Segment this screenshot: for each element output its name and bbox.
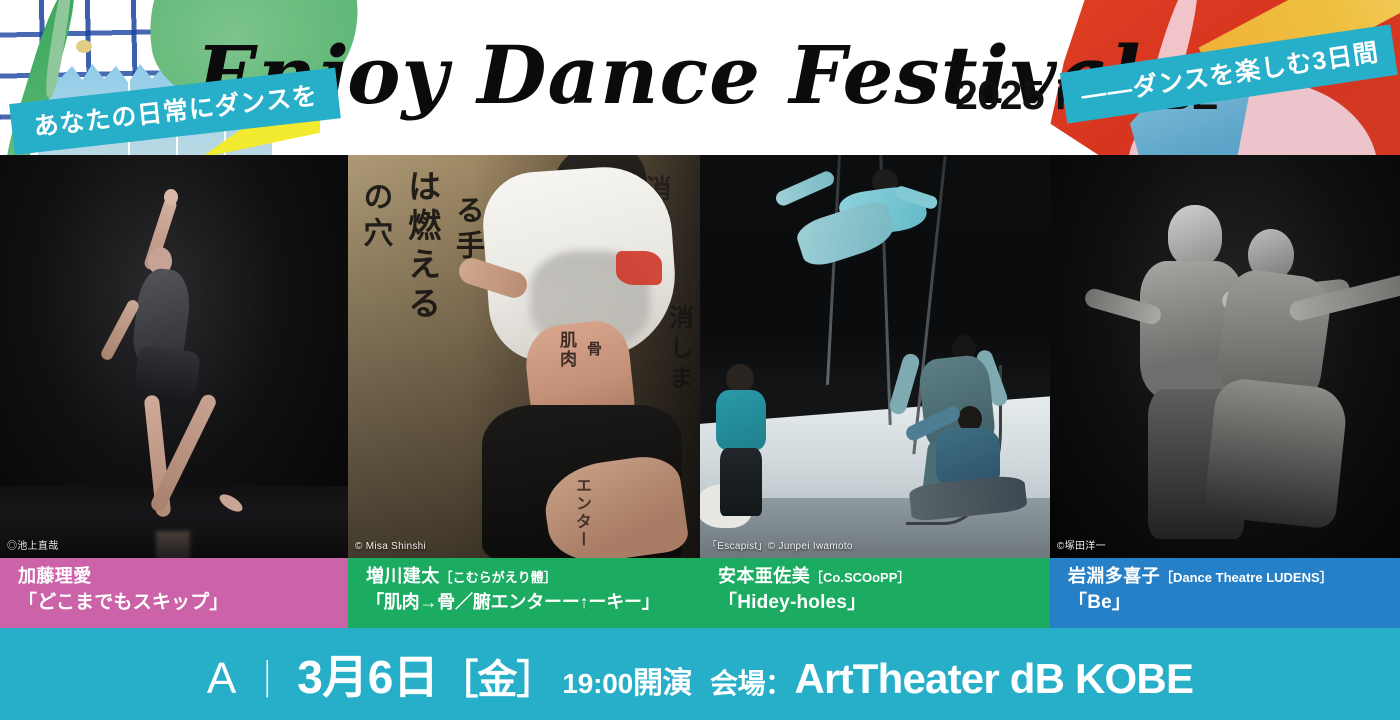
performer-caption-1: 加藤理愛 「どこまでもスキップ」	[0, 558, 348, 628]
footer-divider: ｜	[248, 649, 286, 704]
poster-header: Enjoy Dance Festival 2025 in KOBE あなたの日常…	[0, 0, 1400, 155]
performance-title-4: 「Be」	[1068, 592, 1400, 614]
body-ink-2: 骨	[584, 341, 605, 358]
ochre-dot-graphic	[76, 40, 92, 53]
venue-name: ArtTheater dB KOBE	[795, 655, 1194, 703]
performer-name-2: 増川建太	[366, 566, 440, 586]
performance-open-label: 開演	[633, 658, 692, 702]
performer-photo-3: 「Escapist」© Junpei Iwamoto	[700, 155, 1050, 558]
performer-caption-3: 安本亜佐美［Co.SCOoPP］ 「Hidey-holes」	[700, 558, 1050, 628]
performer-group-4: ［Dance Theatre LUDENS］	[1160, 570, 1333, 585]
seated-performer-figure	[906, 398, 1036, 528]
dancer-figure-2: 肌肉 骨 エンター	[420, 155, 680, 558]
performer-group-3: ［Co.SCOoPP］	[810, 570, 910, 585]
performer-caption-4: 岩淵多喜子［Dance Theatre LUDENS］ 「Be」	[1050, 558, 1400, 628]
performance-date: 3月6日	[297, 641, 438, 707]
performer-name-4: 岩淵多喜子	[1068, 566, 1160, 586]
performer-group-2: ［こむらがえり體］	[440, 570, 557, 585]
performer-caption-2: 増川建太［こむらがえり體］ 「肌肉→骨／腑エンターー↑ーキー」	[348, 558, 700, 628]
performance-title-1: 「どこまでもスキップ」	[18, 592, 348, 614]
venue-label: 会場：	[710, 662, 793, 702]
festival-poster: Enjoy Dance Festival 2025 in KOBE あなたの日常…	[0, 0, 1400, 720]
performer-caption-bars: 加藤理愛 「どこまでもスキップ」 増川建太［こむらがえり體］ 「肌肉→骨／腑エン…	[0, 558, 1400, 628]
performance-day-of-week: ［金］	[438, 647, 555, 705]
photo-credit-1: ◎池上直哉	[7, 537, 59, 552]
performer-photo-4: ©塚田洋一	[1050, 155, 1400, 558]
poster-kanji-1: の穴	[358, 181, 390, 253]
body-ink-1: 肌肉	[554, 331, 579, 369]
performer-photo-2: の穴 は燃える る手 中 消化さ 消しま 肌肉 骨 エンター © Misa Sh…	[348, 155, 700, 558]
program-slot-label: A	[207, 654, 237, 704]
dancer-figure-4b	[1190, 229, 1400, 539]
performer-photo-strip: ◎池上直哉 の穴 は燃える る手 中 消化さ 消しま 肌肉 骨 エンター	[0, 155, 1400, 558]
logo-word-dance: Dance	[477, 28, 761, 122]
standing-performer-figure	[706, 364, 778, 514]
performance-title-2: 「肌肉→骨／腑エンターー↑ーキー」	[366, 592, 700, 613]
schedule-footer-bar: A ｜ 3月6日 ［金］ 19:00 開演 会場： ArtTheater dB …	[0, 628, 1400, 720]
dancer-figure-1	[92, 201, 282, 531]
performer-name-3: 安本亜佐美	[718, 566, 810, 586]
performer-photo-1: ◎池上直哉	[0, 155, 348, 558]
photo-credit-4: ©塚田洋一	[1057, 537, 1106, 552]
performance-time: 19:00	[562, 668, 633, 700]
photo-credit-3: 「Escapist」© Junpei Iwamoto	[707, 537, 853, 552]
photo-credit-2: © Misa Shinshi	[355, 541, 426, 552]
performer-name-1: 加藤理愛	[18, 566, 92, 586]
aerial-dancer-figure	[778, 163, 958, 323]
performance-title-3: 「Hidey-holes」	[718, 592, 1050, 614]
thigh-ink: エンター	[570, 477, 594, 549]
